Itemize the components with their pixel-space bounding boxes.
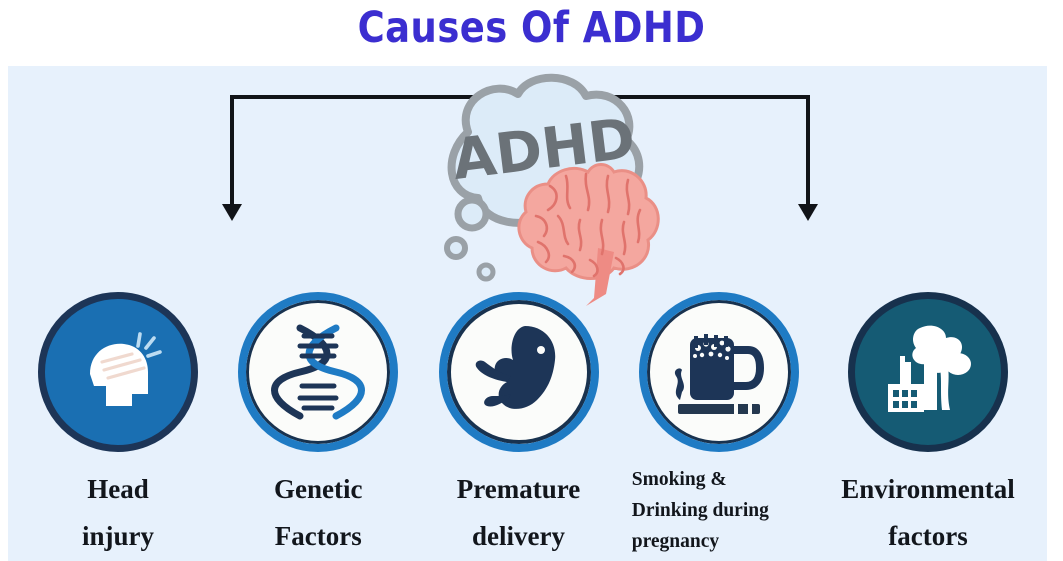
cause-genetic-factors[interactable]: Genetic Factors [227,292,409,560]
head-injury-icon [66,320,170,424]
beer-mug-cigarette-icon [664,320,774,424]
cause-environmental-factors[interactable]: Environmental factors [821,292,1035,560]
infographic-canvas: Causes Of ADHD ADHD [0,0,1063,561]
smoking-drinking-badge[interactable] [639,292,799,452]
genetic-factors-badge[interactable] [238,292,398,452]
bracket-left-stem [230,95,234,207]
adhd-thought-graphic: ADHD [398,70,668,310]
cause-label: Head injury [82,466,154,560]
environmental-factors-badge[interactable] [848,292,1008,452]
dna-helix-icon [270,320,366,424]
arrow-head-left-icon [222,204,242,221]
head-injury-badge[interactable] [38,292,198,452]
cause-label: Genetic Factors [274,466,362,560]
arrow-head-right-icon [798,204,818,221]
cause-premature-delivery[interactable]: Premature delivery [421,292,617,560]
page-title: Causes Of ADHD [74,2,988,58]
cause-label: Smoking & Drinking during pregnancy [628,464,810,557]
causes-row: Head injury Genetic Factors [8,292,1047,561]
fetus-icon [465,320,573,424]
cause-label: Environmental factors [841,466,1015,560]
brain-icon [519,165,658,307]
cause-label: Premature delivery [457,466,580,560]
cause-smoking-drinking[interactable]: Smoking & Drinking during pregnancy [628,292,810,557]
factory-smokestack-icon [876,322,980,422]
cause-head-injury[interactable]: Head injury [20,292,216,560]
premature-delivery-badge[interactable] [439,292,599,452]
bracket-right-stem [806,95,810,207]
